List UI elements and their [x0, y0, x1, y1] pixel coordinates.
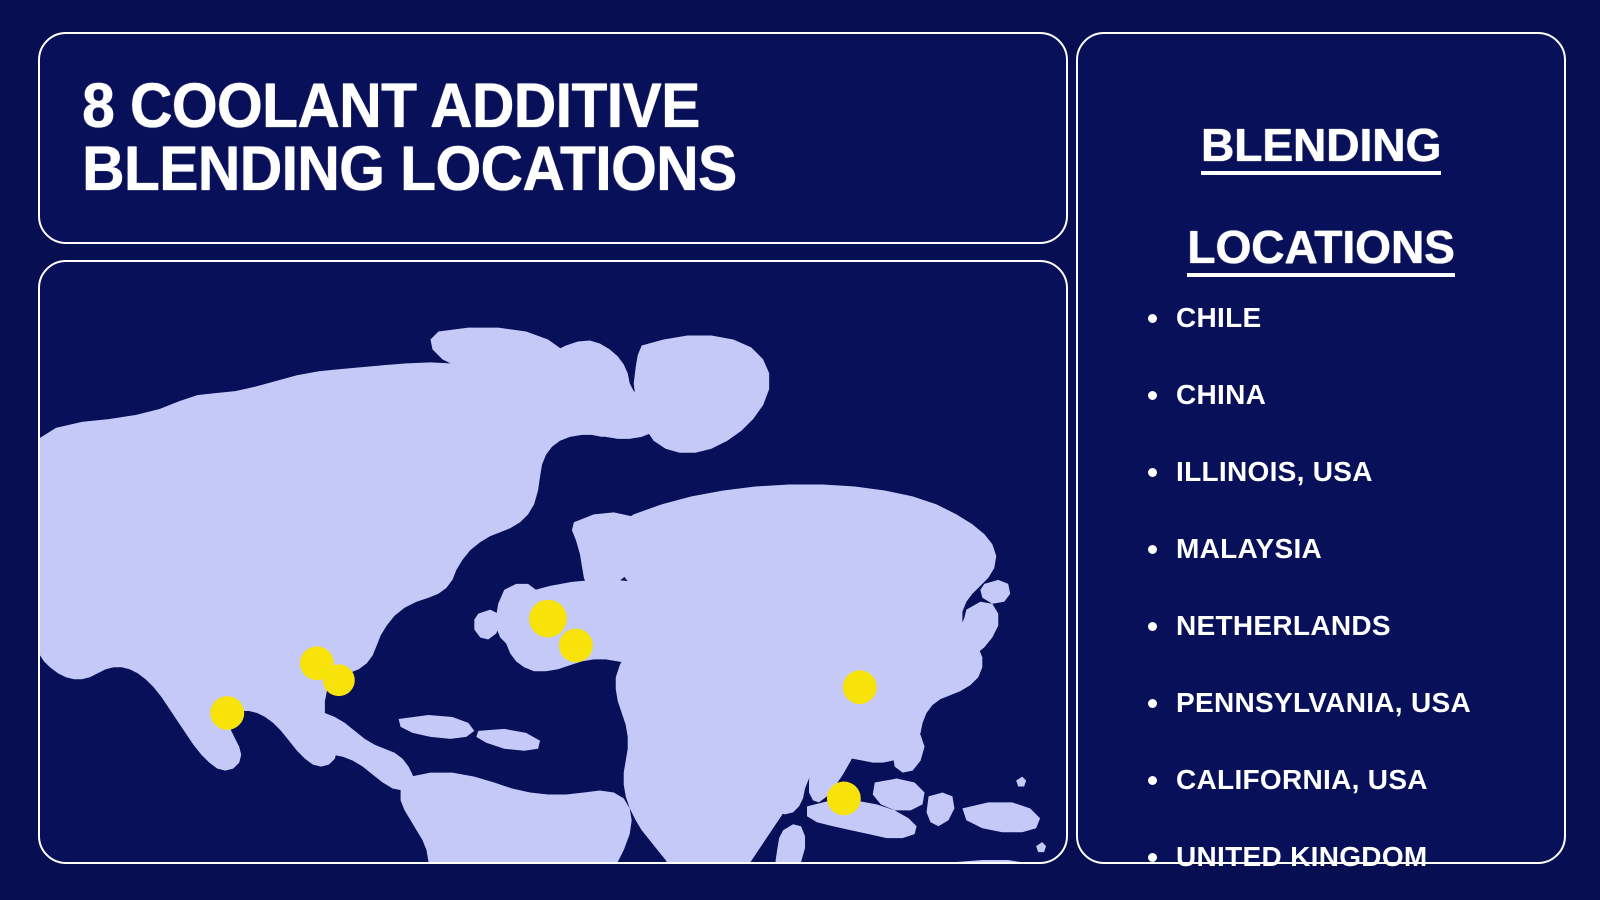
bullet-icon: [1148, 468, 1157, 477]
marker-california-usa[interactable]: [210, 696, 244, 730]
land-sulawesi: [927, 792, 955, 826]
marker-netherlands[interactable]: [559, 629, 593, 663]
marker-china[interactable]: [843, 670, 877, 704]
bullet-icon: [1148, 545, 1157, 554]
marker-united-kingdom[interactable]: [529, 600, 567, 638]
list-item[interactable]: NETHERLANDS: [1148, 611, 1546, 688]
land-ireland: [474, 610, 500, 640]
list-item[interactable]: CHILE: [1148, 303, 1546, 380]
list-item[interactable]: CHINA: [1148, 380, 1546, 457]
list-item-label: ILLINOIS, USA: [1176, 456, 1373, 487]
list-item-label: MALAYSIA: [1176, 533, 1322, 564]
list-item[interactable]: UNITED KINGDOM: [1148, 842, 1546, 900]
list-item[interactable]: MALAYSIA: [1148, 534, 1546, 611]
marker-malaysia[interactable]: [827, 782, 861, 816]
list-item-label: CHINA: [1176, 379, 1266, 410]
list-item[interactable]: ILLINOIS, USA: [1148, 457, 1546, 534]
world-map-svg: [40, 262, 1066, 862]
heading-line-2: LOCATIONS: [1187, 223, 1454, 277]
land-borneo: [873, 779, 925, 811]
map-landmasses: [40, 328, 1066, 862]
locations-list: CHILE CHINA ILLINOIS, USA MALAYSIA NETHE…: [1096, 303, 1546, 900]
bullet-icon: [1148, 391, 1157, 400]
bullet-icon: [1148, 853, 1157, 862]
list-panel-heading: BLENDING LOCATIONS: [1096, 72, 1546, 277]
land-greenland: [634, 336, 769, 453]
land-madagascar: [775, 824, 805, 862]
land-hokkaido: [980, 580, 1010, 604]
list-item-label: CHILE: [1176, 302, 1262, 333]
land-australia: [897, 860, 1066, 862]
land-islands-pacific: [1016, 777, 1026, 787]
land-islands-pacific-2: [1036, 842, 1046, 852]
blending-locations-panel: BLENDING LOCATIONS CHILE CHINA ILLINOIS,…: [1076, 32, 1566, 864]
slide-root: 8 COOLANT ADDITIVE BLENDING LOCATIONS: [0, 0, 1600, 900]
title-panel: 8 COOLANT ADDITIVE BLENDING LOCATIONS: [38, 32, 1068, 244]
land-central-america: [317, 713, 415, 790]
list-item-label: PENNSYLVANIA, USA: [1176, 687, 1471, 718]
marker-pennsylvania-usa[interactable]: [323, 664, 355, 696]
bullet-icon: [1148, 314, 1157, 323]
list-item-label: NETHERLANDS: [1176, 610, 1391, 641]
bullet-icon: [1148, 776, 1157, 785]
list-item[interactable]: CALIFORNIA, USA: [1148, 765, 1546, 842]
list-item-label: CALIFORNIA, USA: [1176, 764, 1428, 795]
land-caribbean: [399, 715, 475, 739]
land-antilles: [476, 729, 540, 751]
bullet-icon: [1148, 622, 1157, 631]
land-new-guinea: [962, 802, 1040, 832]
heading-line-1: BLENDING: [1201, 121, 1441, 175]
world-map-panel: [38, 260, 1068, 864]
bullet-icon: [1148, 699, 1157, 708]
list-item[interactable]: PENNSYLVANIA, USA: [1148, 688, 1546, 765]
land-south-america: [401, 773, 632, 862]
list-item-label: UNITED KINGDOM: [1176, 841, 1428, 872]
page-title: 8 COOLANT ADDITIVE BLENDING LOCATIONS: [82, 75, 737, 201]
